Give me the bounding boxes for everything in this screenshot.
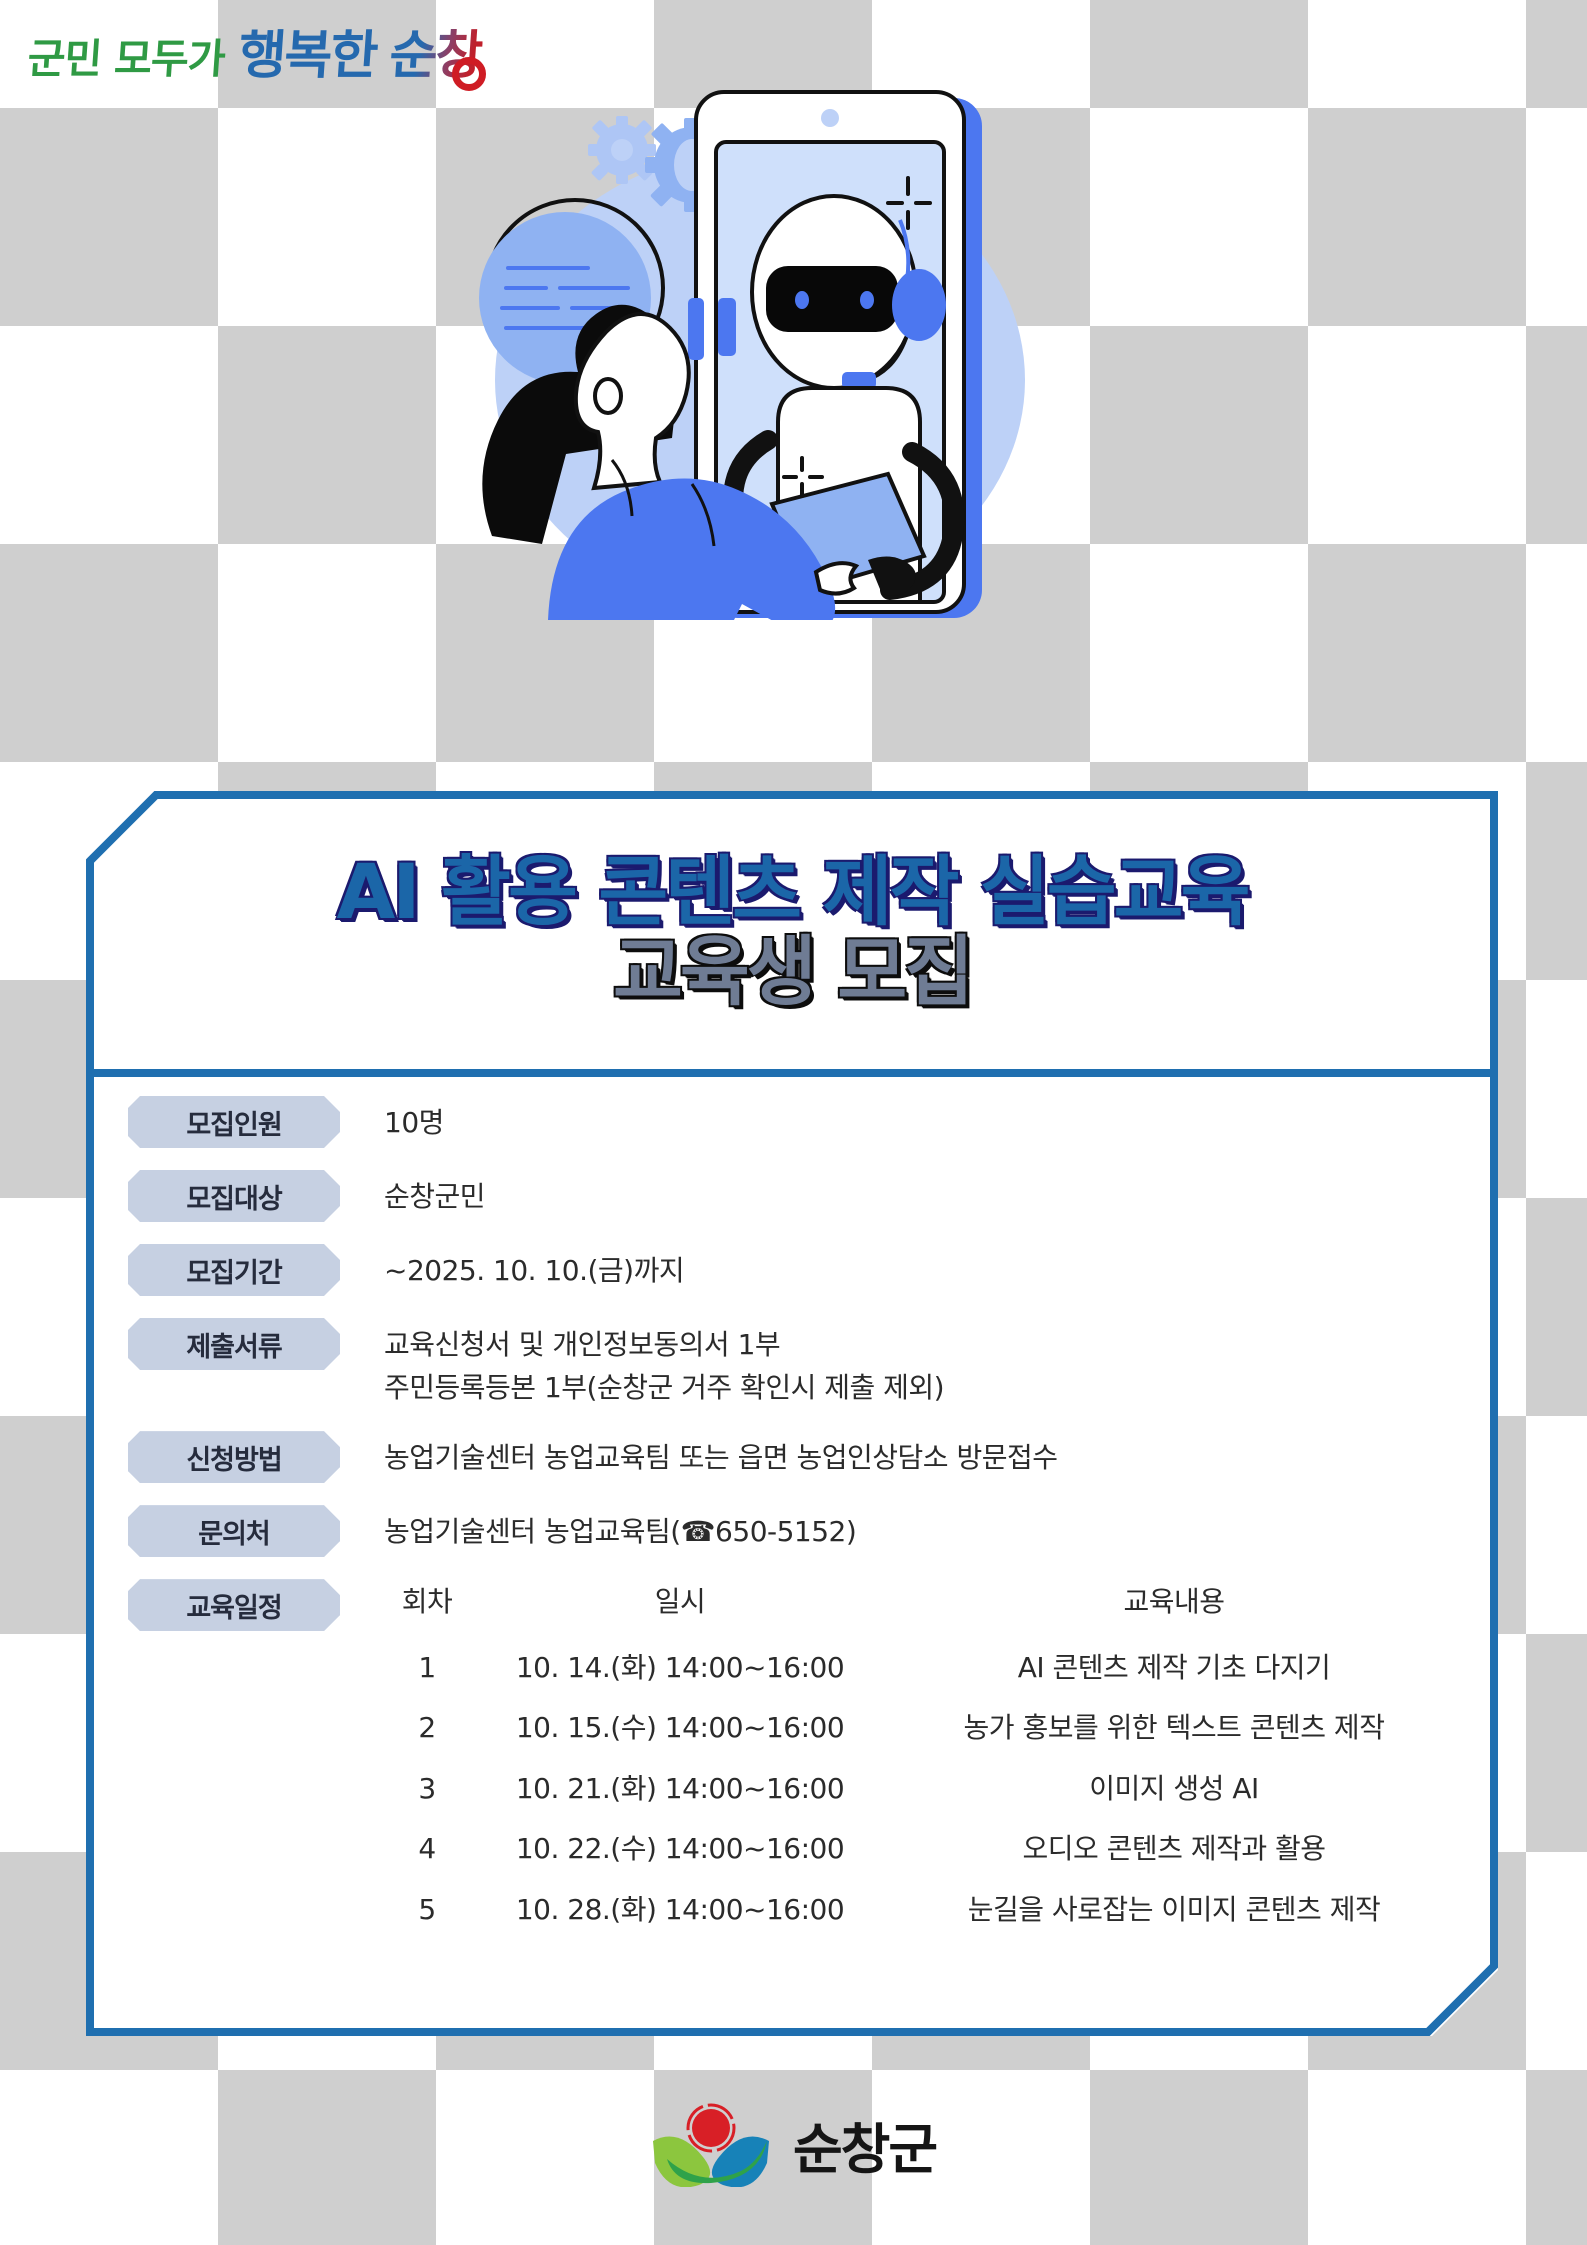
column-header-datetime: 일시 <box>470 1579 890 1638</box>
info-value-line: ~2025. 10. 10.(금)까지 <box>384 1250 1458 1293</box>
info-row-audience: 모집대상 순창군민 <box>128 1170 1458 1222</box>
cell-topic: 오디오 콘텐츠 제작과 활용 <box>890 1819 1458 1880</box>
info-value-capacity: 10명 <box>340 1096 1458 1145</box>
gear-icon-small <box>588 116 656 184</box>
cell-datetime: 10. 14.(화) 14:00~16:00 <box>470 1638 890 1699</box>
table-row: 4 10. 22.(수) 14:00~16:00 오디오 콘텐츠 제작과 활용 <box>384 1819 1458 1880</box>
info-label-capacity: 모집인원 <box>128 1096 340 1148</box>
sun-ring-icon <box>452 57 486 91</box>
info-row-documents: 제출서류 교육신청서 및 개인정보동의서 1부 주민등록등본 1부(순창군 거주… <box>128 1318 1458 1409</box>
info-value-how-to-apply: 농업기술센터 농업교육팀 또는 읍면 농업인상담소 방문접수 <box>340 1431 1458 1480</box>
ai-chatbot-illustration <box>430 60 1150 620</box>
table-row: 5 10. 28.(화) 14:00~16:00 눈길을 사로잡는 이미지 콘텐… <box>384 1880 1458 1941</box>
schedule-table: 회차 일시 교육내용 1 10. 14.(화) 14:00~16:00 AI 콘… <box>384 1579 1458 1940</box>
title-divider <box>86 1069 1498 1077</box>
info-row-schedule: 교육일정 회차 일시 교육내용 1 10. 14.(화) 14:00~16:00… <box>128 1579 1458 1940</box>
info-label-period: 모집기간 <box>128 1244 340 1296</box>
cell-datetime: 10. 21.(화) 14:00~16:00 <box>470 1759 890 1820</box>
info-row-capacity: 모집인원 10명 <box>128 1096 1458 1148</box>
info-value-line: 순창군민 <box>384 1176 1458 1219</box>
sunchang-county-emblem-icon <box>651 2101 771 2187</box>
cell-topic: 눈길을 사로잡는 이미지 콘텐츠 제작 <box>890 1880 1458 1941</box>
info-row-how-to-apply: 신청방법 농업기술센터 농업교육팀 또는 읍면 농업인상담소 방문접수 <box>128 1431 1458 1483</box>
slogan-text-blue: 행복한 <box>236 13 379 88</box>
poster-title-line1: AI 활용 콘텐츠 제작 실습교육 <box>336 853 1247 931</box>
cell-session: 5 <box>384 1880 470 1941</box>
info-value-line: 10명 <box>384 1102 1458 1145</box>
cell-session: 2 <box>384 1698 470 1759</box>
info-row-period: 모집기간 ~2025. 10. 10.(금)까지 <box>128 1244 1458 1296</box>
woman-ear <box>595 379 621 413</box>
info-value-line: 농업기술센터 농업교육팀 또는 읍면 농업인상담소 방문접수 <box>384 1437 1458 1480</box>
column-header-topic: 교육내용 <box>890 1579 1458 1638</box>
cell-session: 4 <box>384 1819 470 1880</box>
info-value-line: 농업기술센터 농업교육팀(☎650-5152) <box>384 1511 1458 1554</box>
schedule-table-wrap: 회차 일시 교육내용 1 10. 14.(화) 14:00~16:00 AI 콘… <box>340 1579 1458 1940</box>
info-value-period: ~2025. 10. 10.(금)까지 <box>340 1244 1458 1293</box>
emblem-sun <box>692 2109 730 2147</box>
slogan-text-green: 군민 모두가 <box>26 25 227 85</box>
cell-datetime: 10. 22.(수) 14:00~16:00 <box>470 1819 890 1880</box>
woman-hand <box>816 563 856 593</box>
table-row: 2 10. 15.(수) 14:00~16:00 농가 홍보를 위한 텍스트 콘… <box>384 1698 1458 1759</box>
cell-datetime: 10. 28.(화) 14:00~16:00 <box>470 1880 890 1941</box>
info-value-line: 교육신청서 및 개인정보동의서 1부 <box>384 1324 1458 1367</box>
robot-eye-right <box>860 291 874 309</box>
cell-session: 1 <box>384 1638 470 1699</box>
poster-title-block: AI 활용 콘텐츠 제작 실습교육 교육생 모집 <box>86 791 1498 1073</box>
robot-headset-earpiece <box>892 269 946 341</box>
info-value-documents: 교육신청서 및 개인정보동의서 1부 주민등록등본 1부(순창군 거주 확인시 … <box>340 1318 1458 1409</box>
info-label-documents: 제출서류 <box>128 1318 340 1370</box>
info-value-line: 주민등록등본 1부(순창군 거주 확인시 제출 제외) <box>384 1367 1458 1410</box>
table-row: 3 10. 21.(화) 14:00~16:00 이미지 생성 AI <box>384 1759 1458 1820</box>
column-header-session: 회차 <box>384 1579 470 1638</box>
info-label-schedule: 교육일정 <box>128 1579 340 1631</box>
info-label-how-to-apply: 신청방법 <box>128 1431 340 1483</box>
cell-topic: AI 콘텐츠 제작 기초 다지기 <box>890 1638 1458 1699</box>
info-value-audience: 순창군민 <box>340 1170 1458 1219</box>
info-value-contact: 농업기술센터 농업교육팀(☎650-5152) <box>340 1505 1458 1554</box>
info-label-audience: 모집대상 <box>128 1170 340 1222</box>
table-header-row: 회차 일시 교육내용 <box>384 1579 1458 1638</box>
footer-logo: 순창군 <box>0 2101 1587 2187</box>
cell-topic: 농가 홍보를 위한 텍스트 콘텐츠 제작 <box>890 1698 1458 1759</box>
table-row: 1 10. 14.(화) 14:00~16:00 AI 콘텐츠 제작 기초 다지… <box>384 1638 1458 1699</box>
recruitment-info-list: 모집인원 10명 모집대상 순창군민 모집기간 ~2025. 10. 10.(금… <box>86 1096 1498 1940</box>
poster-title-line2: 교육생 모집 <box>613 933 971 1011</box>
government-name: 순창군 <box>793 2105 936 2184</box>
robot-eye-left <box>795 291 809 309</box>
info-row-contact: 문의처 농업기술센터 농업교육팀(☎650-5152) <box>128 1505 1458 1557</box>
cell-datetime: 10. 15.(수) 14:00~16:00 <box>470 1698 890 1759</box>
cell-session: 3 <box>384 1759 470 1820</box>
county-slogan: 군민 모두가 행복한 순창 <box>28 10 482 85</box>
info-label-contact: 문의처 <box>128 1505 340 1557</box>
cell-topic: 이미지 생성 AI <box>890 1759 1458 1820</box>
